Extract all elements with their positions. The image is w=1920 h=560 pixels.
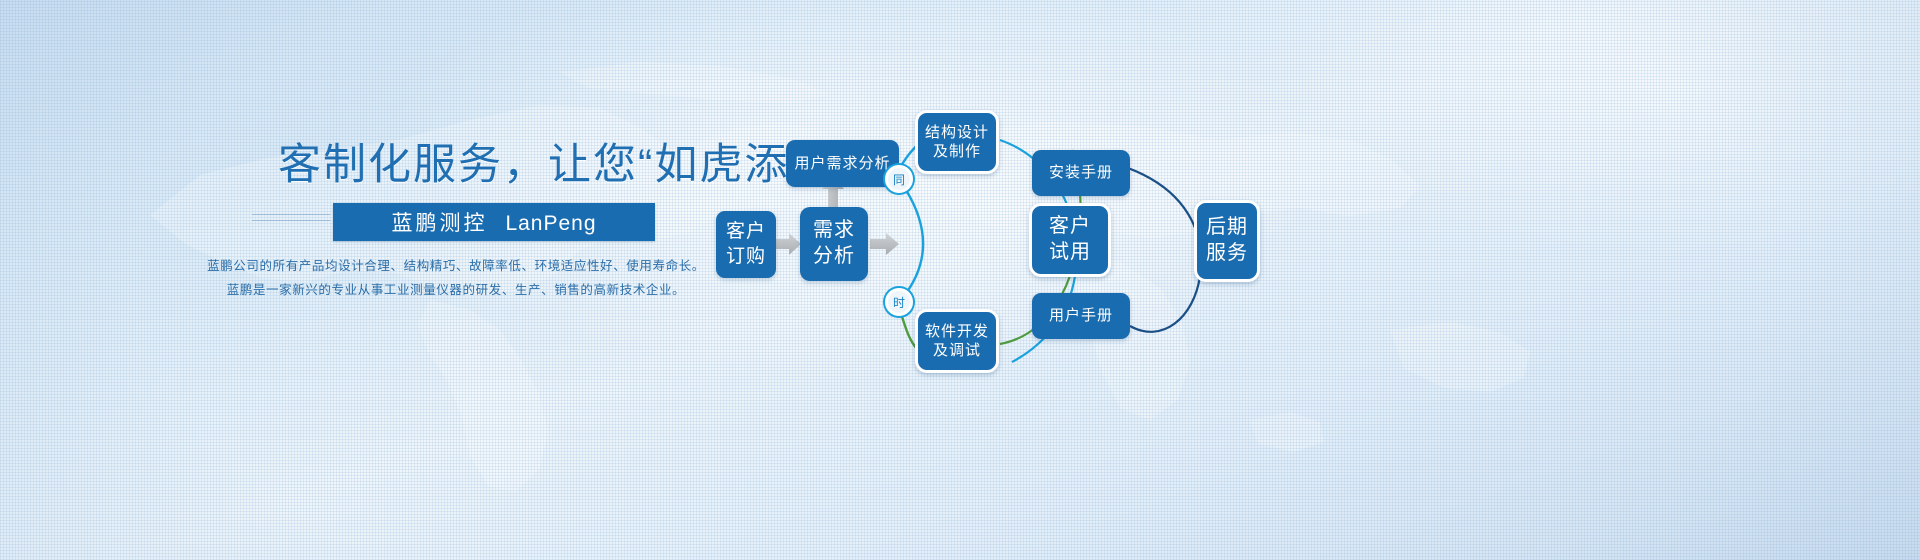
flow-node-label: 用户手册	[1049, 306, 1113, 325]
flow-badge-tong[interactable]: 同	[885, 165, 913, 193]
arrow-right-icon	[870, 231, 900, 257]
flow-badge-shi[interactable]: 时	[885, 288, 913, 316]
flow-node-label: 用户需求分析	[794, 154, 890, 173]
banner-stage: 客制化服务，让您“如虎添翼” 蓝鹏测控LanPeng 蓝鹏公司的所有产品均设计合…	[0, 0, 1920, 560]
brand-bar-text: 蓝鹏测控LanPeng	[391, 207, 596, 237]
brand-bar: 蓝鹏测控LanPeng	[333, 203, 655, 241]
flow-node-label: 需求分析	[813, 218, 855, 269]
arrow-right-icon	[776, 231, 802, 257]
flow-node-user-manual[interactable]: 用户手册	[1032, 293, 1130, 339]
brand-name-cn: 蓝鹏测控	[391, 212, 487, 235]
flow-badge-label: 同	[893, 171, 905, 188]
flow-connectors	[700, 0, 1920, 560]
brand-name-en: LanPeng	[505, 212, 596, 235]
flow-node-installation-manual[interactable]: 安装手册	[1032, 150, 1130, 196]
flow-node-label: 软件开发及调试	[925, 322, 989, 360]
flow-node-user-requirement-analysis[interactable]: 用户需求分析	[786, 140, 899, 187]
flow-badge-label: 时	[893, 294, 905, 311]
flow-node-after-sales-service[interactable]: 后期服务	[1194, 200, 1260, 282]
flow-node-requirement-analysis[interactable]: 需求分析	[800, 207, 868, 281]
decorative-rule	[252, 214, 330, 228]
flow-node-label: 客户订购	[726, 220, 766, 269]
flow-node-label: 客户试用	[1049, 214, 1091, 265]
process-flow-diagram: 用户需求分析 客户订购 需求分析 结构设计及制作 软件开发及调试 安装手册	[700, 0, 1920, 560]
flow-node-customer-order[interactable]: 客户订购	[716, 211, 776, 278]
flow-node-label: 安装手册	[1049, 163, 1113, 182]
flow-node-structural-design[interactable]: 结构设计及制作	[915, 110, 999, 174]
flow-node-label: 结构设计及制作	[925, 123, 989, 161]
flow-node-software-development[interactable]: 软件开发及调试	[915, 309, 999, 373]
flow-node-label: 后期服务	[1206, 215, 1248, 266]
flow-node-customer-trial[interactable]: 客户试用	[1029, 203, 1111, 277]
